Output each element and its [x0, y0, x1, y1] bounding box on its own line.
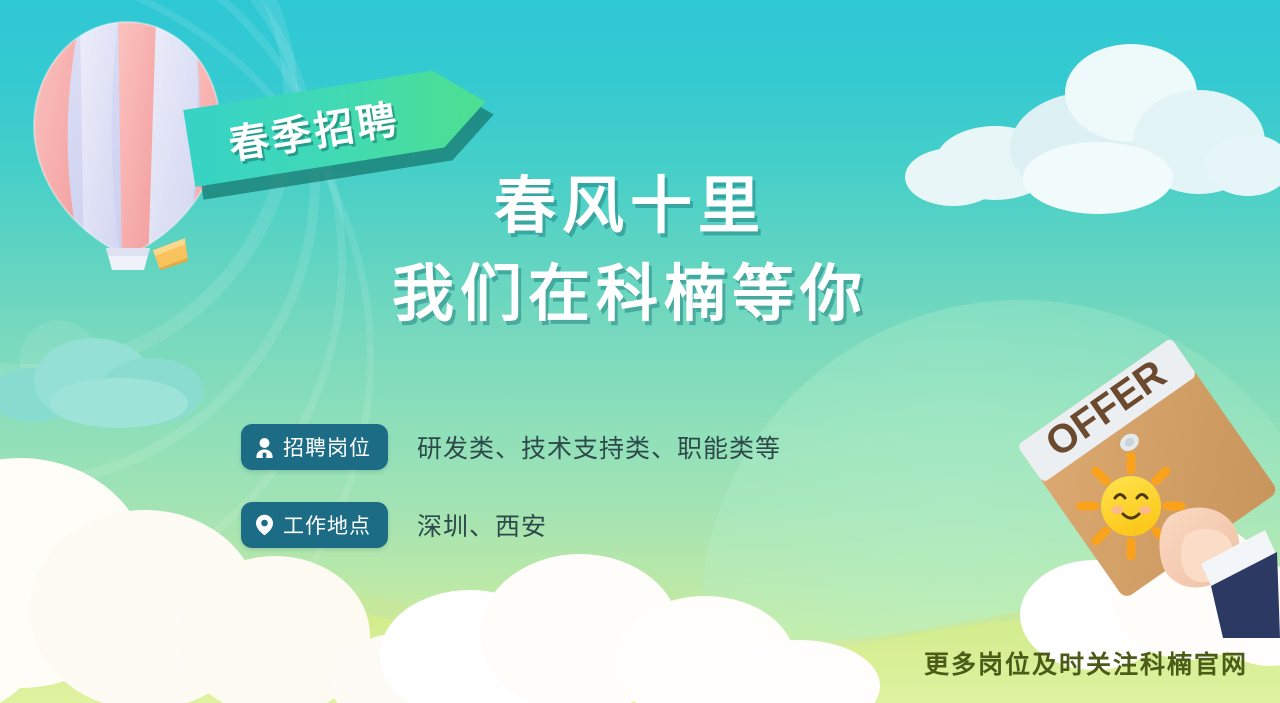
position-value: 研发类、技术支持类、职能类等	[417, 429, 781, 465]
info-block: 招聘岗位 研发类、技术支持类、职能类等 工作地点 深圳、西安	[241, 424, 781, 580]
location-pill: 工作地点	[241, 502, 388, 548]
info-row-location: 工作地点 深圳、西安	[241, 502, 781, 548]
offer-envelope-illustration: OFFER	[1005, 318, 1280, 638]
headline-line-1: 春风十里	[310, 168, 950, 246]
footer-note: 更多岗位及时关注科楠官网	[924, 645, 1248, 681]
headline-line-2: 我们在科楠等你	[310, 256, 950, 334]
location-value: 深圳、西安	[417, 507, 547, 543]
position-pill: 招聘岗位	[241, 424, 388, 470]
recruitment-banner: 春季招聘 春风十里 我们在科楠等你 招聘岗位 研发类、技术支持类、职能类等	[0, 0, 1280, 703]
cloud-icon	[0, 322, 230, 432]
cloud-icon	[905, 38, 1280, 208]
info-row-position: 招聘岗位 研发类、技术支持类、职能类等	[241, 424, 781, 470]
position-pill-label: 招聘岗位	[283, 432, 371, 462]
page-title: 春风十里 我们在科楠等你	[310, 168, 950, 334]
location-pill-label: 工作地点	[283, 510, 371, 540]
decor-circle	[20, 320, 98, 398]
location-pin-icon	[255, 514, 274, 536]
person-icon	[255, 437, 274, 458]
